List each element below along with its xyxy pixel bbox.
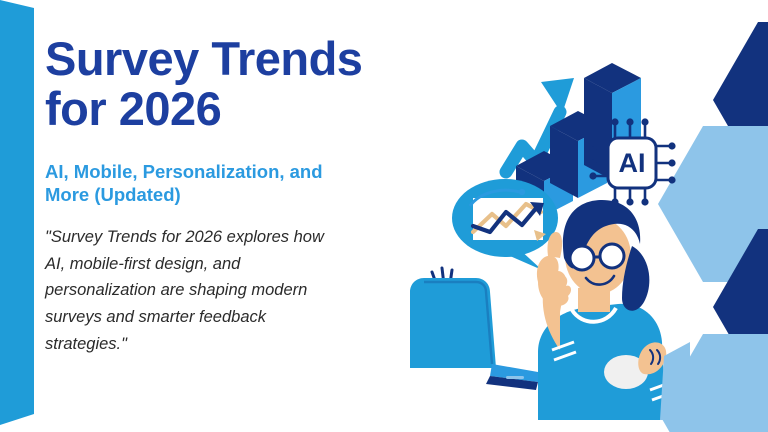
slide-canvas: AI [0,0,768,432]
page-title: Survey Trends for 2026 [45,34,405,134]
speech-bubble-chart [452,179,558,270]
ai-chip-label: AI [619,148,646,178]
woman-with-laptop [537,200,674,420]
laptop-icon [410,278,538,390]
left-accent-bar [0,0,40,432]
summary-quote: "Survey Trends for 2026 explores how AI,… [45,224,405,358]
text-column: Survey Trends for 2026 AI, Mobile, Perso… [45,34,405,358]
page-subtitle: AI, Mobile, Personalization, and More (U… [45,160,405,207]
survey-ai-illustration: AI [410,20,690,420]
